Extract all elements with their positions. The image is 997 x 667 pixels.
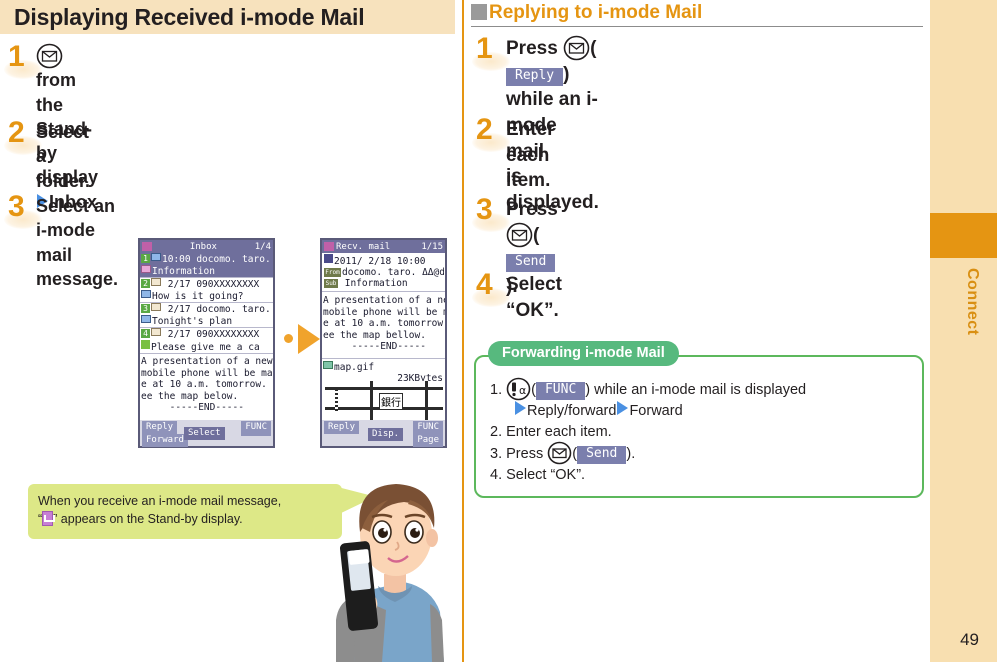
inbox-row-sub[interactable]: Please give me a ca <box>140 340 273 353</box>
reply-step-2-text: Enter each item. <box>506 117 555 194</box>
right-column: Replying to i-mode Mail 1 Press (Reply) … <box>468 0 930 662</box>
row-index: 3 <box>141 304 150 313</box>
inbox-message-list: 110:00 docomo. taro. ΔΔ Information 2 2/… <box>140 253 273 354</box>
inbox-row-sub[interactable]: Tonight's plan <box>140 315 273 327</box>
softkey-func-chip: FUNC <box>536 382 585 400</box>
item-prefix: Press <box>506 446 543 462</box>
mail-key-icon <box>563 37 590 59</box>
item-number: 1. <box>490 382 502 398</box>
softkey-func[interactable]: FUNC <box>413 421 443 434</box>
softkey-reply-chip: Reply <box>506 68 563 86</box>
chapter-tab-label: Connect <box>963 268 981 336</box>
step-number: 1 <box>8 42 25 72</box>
section-rule <box>471 26 923 27</box>
mail-from: docomo. taro. ΔΔ@docom <box>342 267 444 278</box>
mail-status-icon <box>324 242 334 251</box>
inbox-softkey-bar: Reply Forward Select FUNC <box>140 420 273 446</box>
step-number: 3 <box>8 192 25 222</box>
info-item-2: 2. Enter each item. <box>490 422 922 443</box>
chapter-side-tab: Connect 49 <box>930 0 997 662</box>
clock-icon <box>324 254 333 263</box>
softkey-reply[interactable]: Reply <box>142 421 177 434</box>
item-number: 4. <box>490 467 502 483</box>
mail-subject: Information <box>345 278 408 289</box>
attachment-name: map.gif <box>334 362 374 373</box>
reply-step-4-text: Select “OK”. <box>506 272 562 323</box>
arrow-right-icon <box>515 401 526 415</box>
subject-icon <box>141 265 151 273</box>
mail-key-icon <box>36 45 63 67</box>
func-key-icon: α <box>506 379 531 399</box>
item-text: Enter each item. <box>506 424 612 440</box>
row-line1: 2/17 docomo. taro. ΔΔ <box>168 304 273 315</box>
arrow-right-icon <box>617 401 628 415</box>
mail-header-fields: 2011/ 2/18 10:00 Fromdocomo. taro. ΔΔ@do… <box>322 253 445 289</box>
page-title: Displaying Received i-mode Mail <box>0 0 455 31</box>
step-number: 2 <box>8 118 25 148</box>
item-number: 3. <box>490 446 502 462</box>
inbox-row[interactable]: 2 2/17 090XXXXXXXX <box>140 278 273 290</box>
info-box-list: 1. α (FUNC) while an i-mode mail is disp… <box>476 357 922 486</box>
phone-screenshot-received-mail: Recv. mail 1/15 2011/ 2/18 10:00 Fromdoc… <box>320 238 447 448</box>
svg-text:α: α <box>519 384 526 397</box>
inbox-counter: 1/4 <box>255 242 271 252</box>
mail-date-row: 2011/ 2/18 10:00 <box>323 254 444 267</box>
row-line2: How is it going? <box>152 291 244 302</box>
info-box-title: Forwarding i-mode Mail <box>488 341 679 366</box>
section-title-text: Replying to i-mode Mail <box>489 2 702 23</box>
step-number: 3 <box>476 195 493 225</box>
softkey-send-chip: Send <box>577 446 626 464</box>
softkey-keys-icon[interactable] <box>241 434 271 436</box>
sub-label-a: Reply/forward <box>527 403 616 419</box>
balloon-line-2-text: ” appears on the Stand-by display. <box>53 512 242 526</box>
step-number: 2 <box>476 115 493 145</box>
column-divider <box>462 0 464 662</box>
softkey-disp[interactable]: Disp. <box>368 428 403 441</box>
item-text: Select “OK”. <box>506 467 585 483</box>
map-thumbnail: 銀行 <box>325 381 443 423</box>
sub-label: Sub <box>324 279 338 288</box>
sub-label-b: Forward <box>629 403 682 419</box>
image-icon <box>323 361 333 369</box>
section-title: Replying to i-mode Mail <box>471 2 702 24</box>
inbox-preview-text: A presentation of a new mobile phone wil… <box>140 354 273 414</box>
item-suffix: ). <box>626 446 635 462</box>
attachment-row[interactable]: map.gif <box>322 359 445 373</box>
mail-counter: 1/15 <box>421 242 443 252</box>
mail-key-icon <box>506 224 533 246</box>
subject-icon <box>141 315 151 323</box>
step-number: 1 <box>476 34 493 64</box>
inbox-titlebar: Inbox 1/4 <box>140 240 273 253</box>
info-item-4: 4. Select “OK”. <box>490 465 922 486</box>
mail-titlebar: Recv. mail 1/15 <box>322 240 445 253</box>
sequence-arrow-icon <box>298 324 320 354</box>
mail-key-icon <box>547 443 572 463</box>
page-number: 49 <box>960 630 979 650</box>
balloon-line-2: “” appears on the Stand-by display. <box>38 510 332 528</box>
mail-status-icon <box>142 242 152 251</box>
softkey-page[interactable]: Page <box>413 434 443 447</box>
mail-softkey-bar: Reply Disp. FUNC Page <box>322 420 445 446</box>
mail-indicator-icon <box>42 511 53 526</box>
row-line2: Information <box>152 266 215 277</box>
row-index: 4 <box>141 329 150 338</box>
inbox-row[interactable]: 110:00 docomo. taro. ΔΔ <box>140 253 273 265</box>
phone-screenshot-inbox: Inbox 1/4 110:00 docomo. taro. ΔΔ Inform… <box>138 238 275 448</box>
info-item-1: 1. α (FUNC) while an i-mode mail is disp… <box>490 379 922 401</box>
left-column: Displaying Received i-mode Mail 1 from t… <box>0 0 460 662</box>
inbox-row[interactable]: 4 2/17 090XXXXXXXX <box>140 328 273 340</box>
forwarding-info-box: Forwarding i-mode Mail 1. α (FUNC) while… <box>474 355 924 498</box>
step-prefix: Press <box>506 199 558 220</box>
mail-from-row: Fromdocomo. taro. ΔΔ@docom <box>323 267 444 278</box>
softkey-forward[interactable]: Forward <box>142 434 188 447</box>
info-item-1-sub: Reply/forwardForward <box>490 401 922 422</box>
mail-title: Recv. mail <box>334 242 421 252</box>
step-number: 4 <box>476 270 493 300</box>
sequence-dot-icon <box>284 334 293 343</box>
softkey-reply[interactable]: Reply <box>324 421 359 434</box>
softkey-select[interactable]: Select <box>184 427 225 440</box>
row-line1: 2/17 090XXXXXXXX <box>168 329 260 340</box>
step-3-text: Select an i-mode mail message. <box>36 194 118 291</box>
inbox-row-sub[interactable]: Information <box>140 265 273 277</box>
chapter-tab-marker <box>930 213 997 258</box>
envelope-icon <box>151 278 161 286</box>
step-2-text: Select a folder. <box>36 120 90 193</box>
page-title-bar: Displaying Received i-mode Mail <box>0 0 455 34</box>
map-bank-label: 銀行 <box>379 393 403 410</box>
row-line2: Please give me a ca <box>151 342 260 353</box>
inbox-row-sub[interactable]: How is it going? <box>140 290 273 302</box>
person-holding-phone-illustration <box>292 470 460 662</box>
item-number: 2. <box>490 424 502 440</box>
envelope-icon <box>151 303 161 311</box>
row-index: 2 <box>141 279 150 288</box>
mail-subject-row: Sub Information <box>323 278 444 289</box>
softkey-func[interactable]: FUNC <box>241 421 271 434</box>
step-prefix: Press <box>506 38 558 59</box>
subject-icon <box>141 340 150 349</box>
balloon-line-1: When you receive an i-mode mail message, <box>38 492 332 510</box>
mail-body-text: A presentation of a new mobile phone wil… <box>322 292 445 353</box>
info-item-3: 3. Press (Send). <box>490 443 922 465</box>
row-line1: 10:00 docomo. taro. ΔΔ <box>162 254 273 265</box>
mail-date: 2011/ 2/18 10:00 <box>334 256 426 267</box>
manual-page: Displaying Received i-mode Mail 1 from t… <box>0 0 997 662</box>
inbox-title: Inbox <box>152 242 255 252</box>
subject-icon <box>141 290 151 298</box>
from-label: From <box>324 268 341 277</box>
item-text: ) while an i-mode mail is displayed <box>585 382 806 398</box>
envelope-icon <box>151 253 161 261</box>
row-index: 1 <box>141 254 150 263</box>
inbox-row[interactable]: 3 2/17 docomo. taro. ΔΔ <box>140 303 273 315</box>
section-marker-icon <box>471 4 487 20</box>
softkey-send-chip: Send <box>506 254 555 272</box>
envelope-icon <box>151 328 161 336</box>
row-line1: 2/17 090XXXXXXXX <box>168 279 260 290</box>
row-line2: Tonight's plan <box>152 316 232 327</box>
